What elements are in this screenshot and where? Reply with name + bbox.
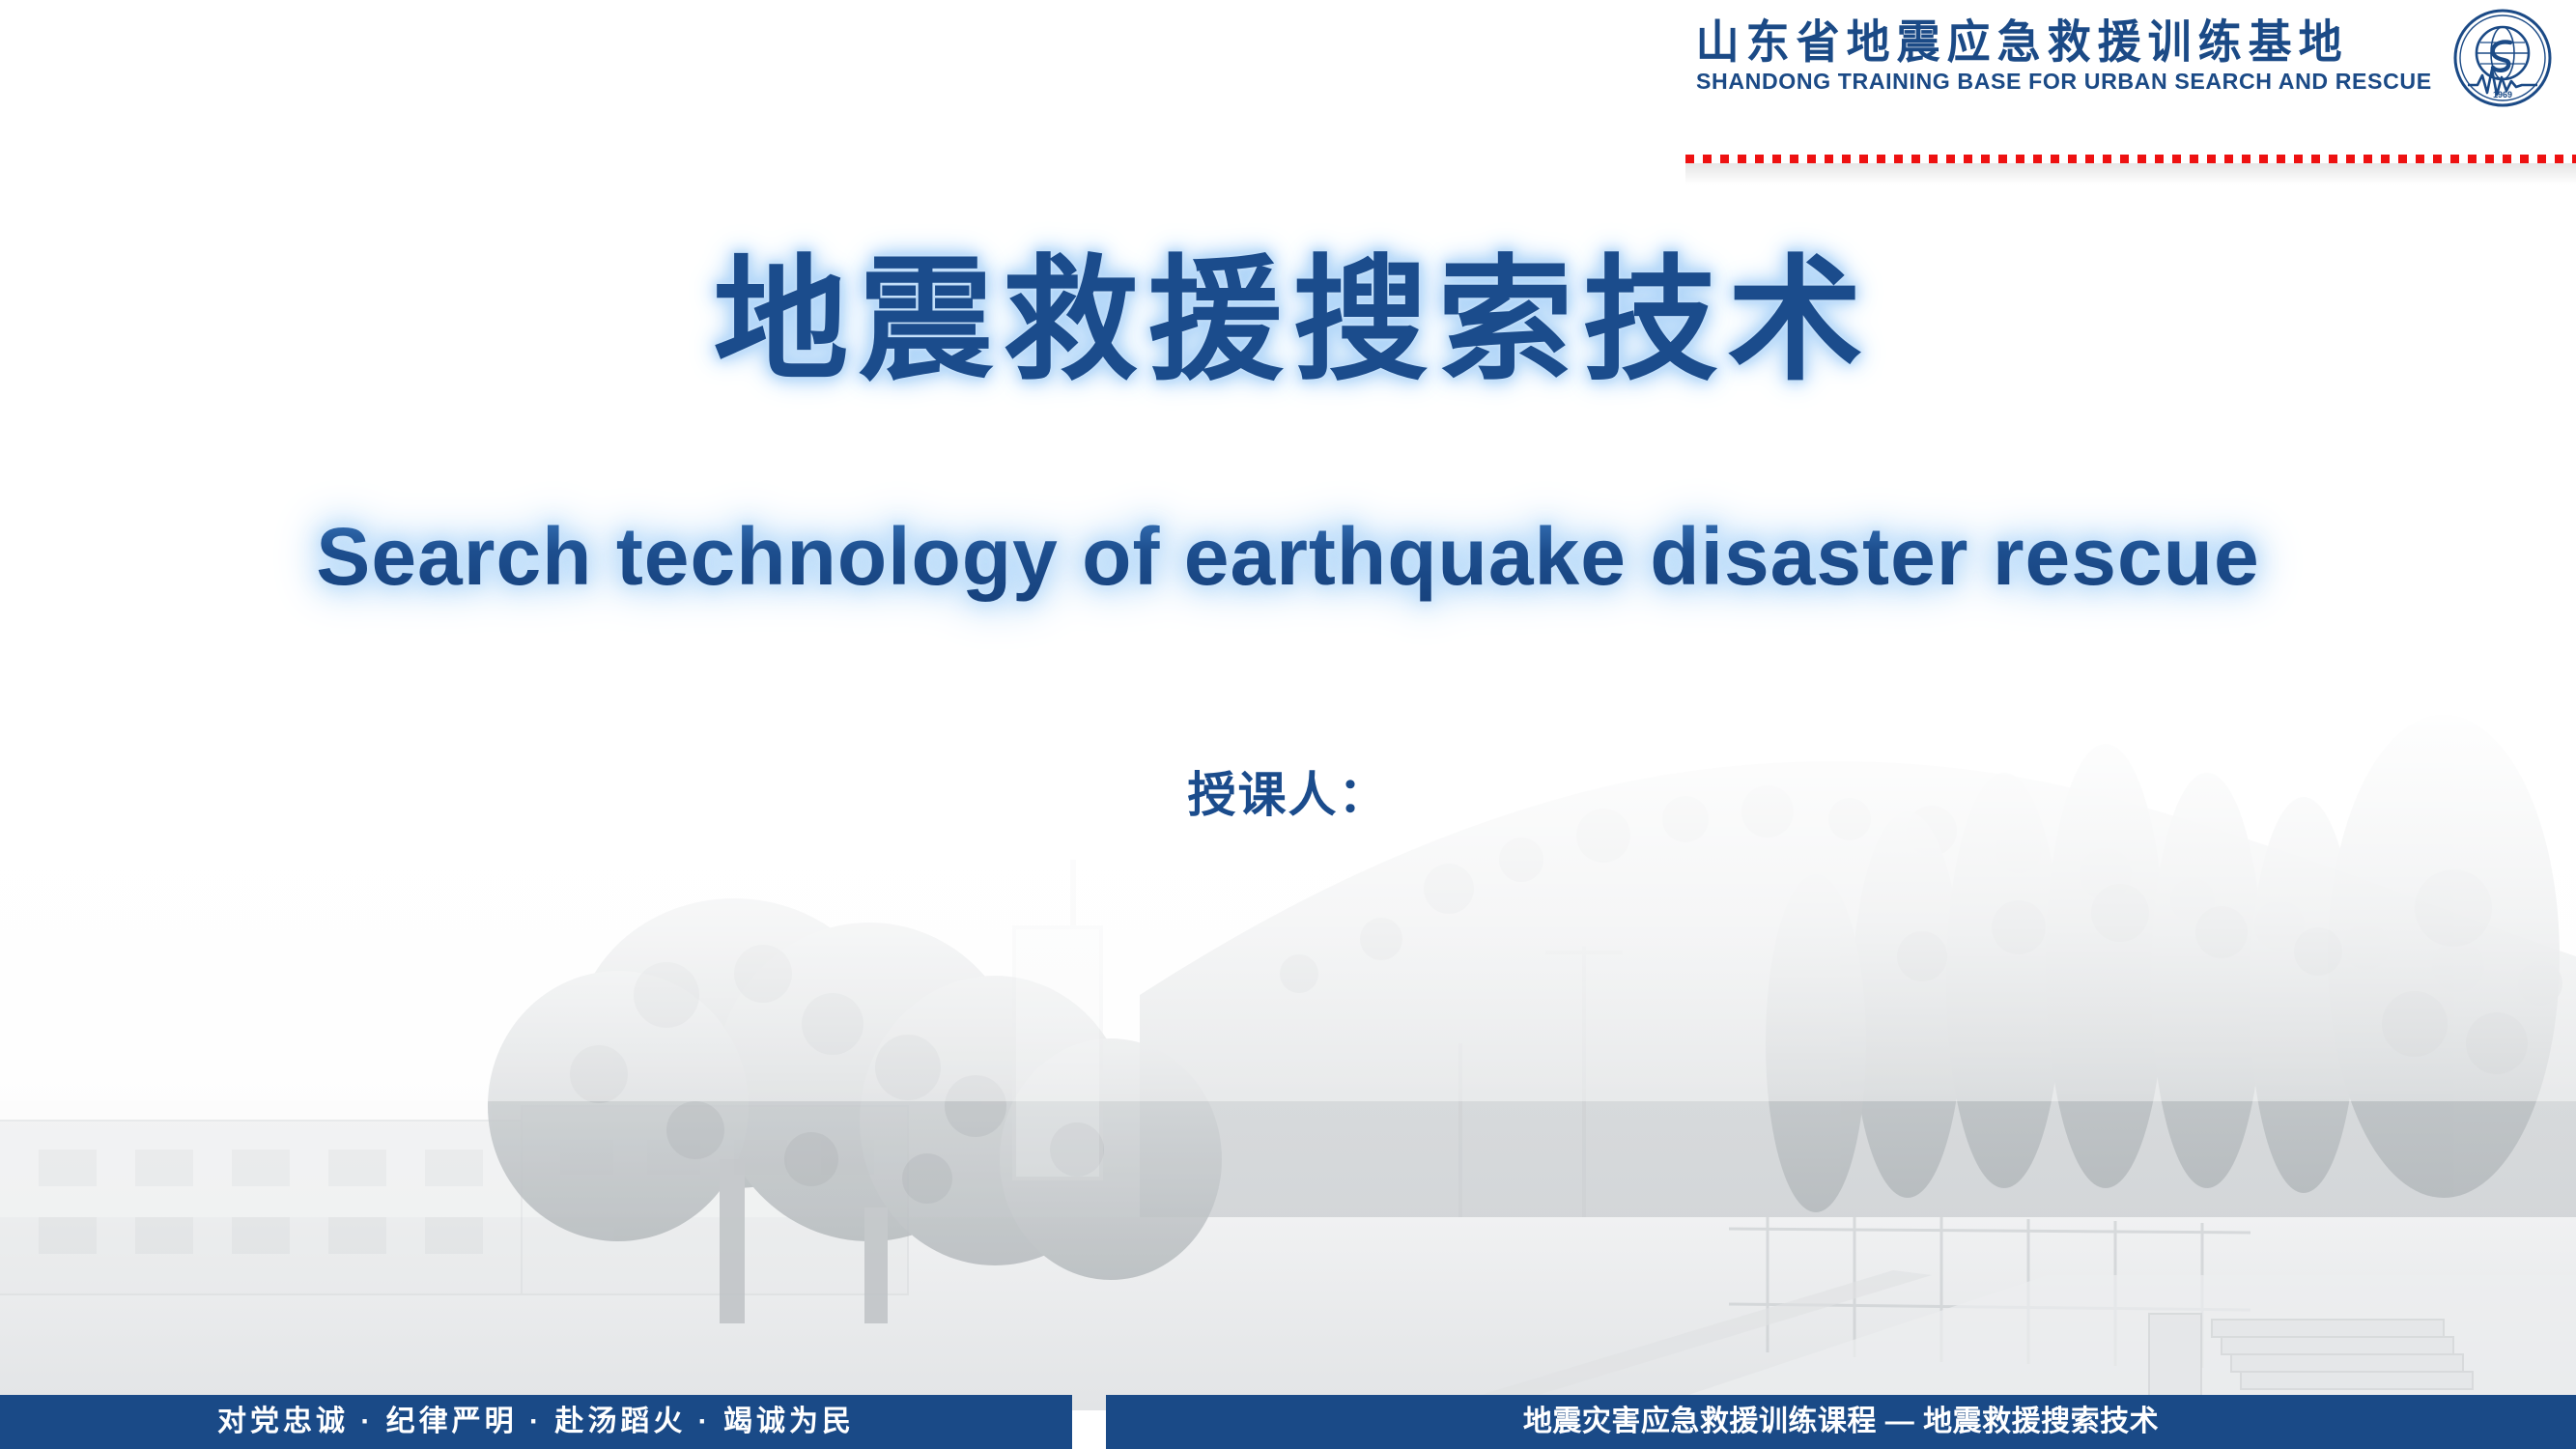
organization-name-en: SHANDONG TRAINING BASE FOR URBAN SEARCH … [1696,68,2432,96]
footer-course-text: 地震灾害应急救援训练课程 — 地震救援搜索技术 [1523,1407,2159,1436]
footer-motto-bar: 对党忠诚 · 纪律严明 · 赴汤蹈火 · 竭诚为民 [0,1395,1072,1449]
footer-course-bar: 地震灾害应急救援训练课程 — 地震救援搜索技术 [1106,1395,2576,1449]
red-dotted-divider [1685,155,2576,163]
slide-root: 山东省地震应急救援训练基地 SHANDONG TRAINING BASE FOR… [0,0,2576,1449]
page-title-cn: 地震救援搜索技术 [0,253,2576,388]
shandong-earthquake-agency-emblem-icon: 1969 [2452,8,2553,108]
page-title-en: Search technology of earthquake disaster… [0,502,2576,611]
divider-shadow [1685,163,2576,185]
organization-name-cn: 山东省地震应急救援训练基地 [1696,18,2443,67]
footer-motto-text: 对党忠诚 · 纪律严明 · 赴汤蹈火 · 竭诚为民 [217,1407,855,1436]
background-photo [0,541,2576,1410]
presenter-label: 授课人： [0,771,2576,819]
emblem-year: 1969 [2493,90,2512,99]
organization-header: 山东省地震应急救援训练基地 SHANDONG TRAINING BASE FOR… [1696,8,2553,108]
organization-wordmark: 山东省地震应急救援训练基地 SHANDONG TRAINING BASE FOR… [1696,19,2443,97]
